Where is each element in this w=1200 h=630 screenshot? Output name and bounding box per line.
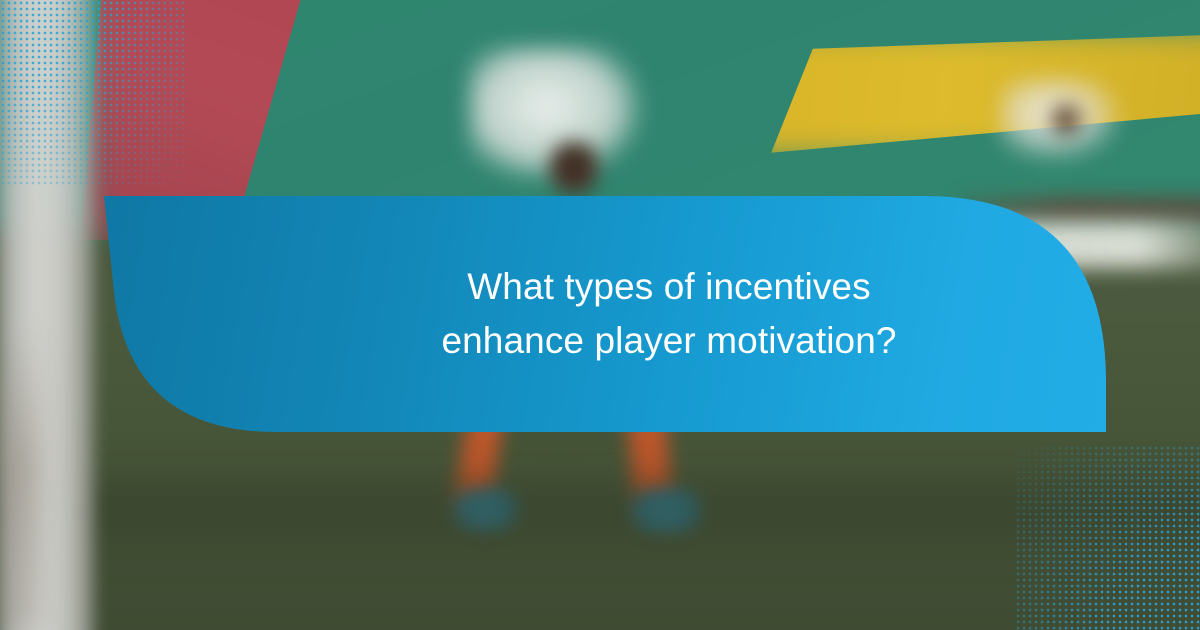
- question-banner-inner: What types of incentives enhance player …: [241, 260, 961, 369]
- share-card: What types of incentives enhance player …: [0, 0, 1200, 630]
- halftone-dots-bottom-right-icon: [1015, 445, 1200, 630]
- goal-post-shadow: [0, 330, 42, 630]
- page-title: What types of incentives enhance player …: [401, 260, 937, 369]
- blurred-figure-right-head: [1045, 98, 1087, 142]
- question-banner: What types of incentives enhance player …: [96, 196, 1106, 432]
- blurred-figure-center-head: [548, 140, 600, 196]
- halftone-dots-top-left-icon: [0, 0, 185, 185]
